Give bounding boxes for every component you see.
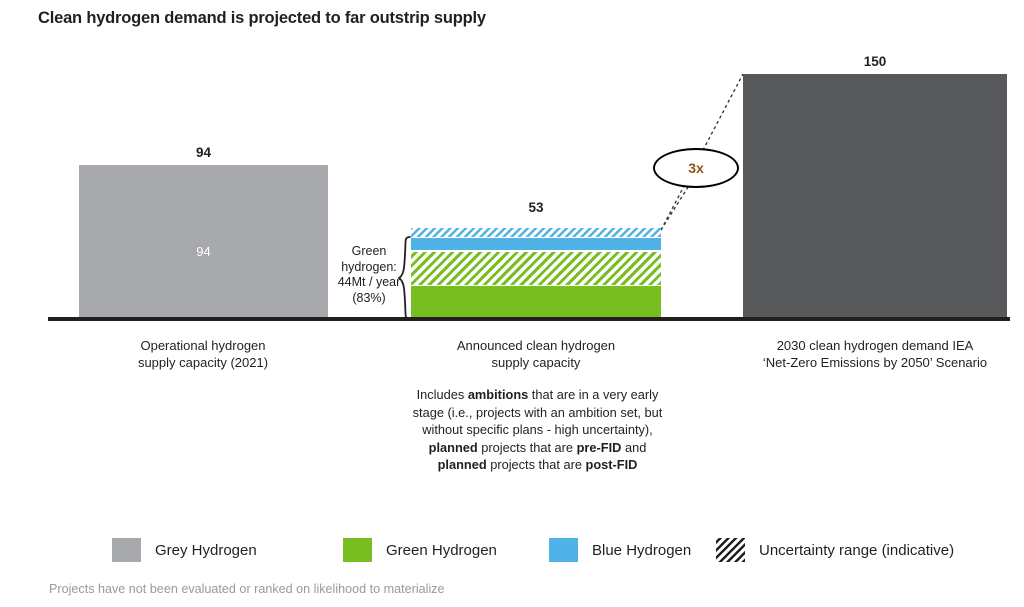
- includes-note-bold-planned-2: planned: [438, 457, 487, 472]
- chart-plot-area: 94 94 53 Green hydrogen: 44Mt / year (83…: [0, 0, 1024, 607]
- chart-legend: Grey Hydrogen Green Hydrogen Blue Hydrog…: [112, 535, 972, 565]
- category-label-2030-demand: 2030 clean hydrogen demand IEA ‘Net-Zero…: [730, 337, 1020, 371]
- includes-note-bold-pre-fid: pre-FID: [577, 440, 622, 455]
- includes-note-part-1: Includes: [417, 387, 468, 402]
- legend-label-green-hydrogen: Green Hydrogen: [386, 542, 497, 559]
- x-axis-line: [48, 317, 1010, 321]
- bar-2030-demand[interactable]: [743, 74, 1007, 317]
- category-1-line-1: Operational hydrogen: [103, 337, 303, 354]
- category-label-announced-supply: Announced clean hydrogen supply capacity: [436, 337, 636, 371]
- segment-green-hydrogen: [411, 286, 661, 317]
- legend-item-green-hydrogen[interactable]: Green Hydrogen: [343, 535, 497, 565]
- includes-note-part-4: and: [621, 440, 646, 455]
- legend-swatch-blue-hydrogen: [549, 538, 578, 562]
- legend-label-blue-hydrogen: Blue Hydrogen: [592, 542, 691, 559]
- category-3-line-2: ‘Net-Zero Emissions by 2050’ Scenario: [730, 354, 1020, 371]
- includes-note: Includes ambitions that are in a very ea…: [411, 386, 664, 474]
- bar-grey-inside-label: 94: [79, 244, 328, 259]
- legend-swatch-green-hydrogen: [343, 538, 372, 562]
- bar-announced-clean-hydrogen[interactable]: [411, 228, 661, 317]
- multiplier-callout: 3x: [653, 148, 739, 188]
- includes-note-bold-ambitions: ambitions: [468, 387, 528, 402]
- legend-swatch-grey-hydrogen: [112, 538, 141, 562]
- legend-item-blue-hydrogen[interactable]: Blue Hydrogen: [549, 535, 691, 565]
- category-2-line-1: Announced clean hydrogen: [436, 337, 636, 354]
- bar-grey-value-label: 94: [79, 145, 328, 160]
- green-annot-line-4: (83%): [330, 291, 408, 307]
- bar-announced-value-label: 53: [411, 200, 661, 215]
- green-annot-line-3: 44Mt / year: [330, 275, 408, 291]
- bar-2030-demand-value-label: 150: [743, 54, 1007, 69]
- includes-note-part-3: projects that are: [478, 440, 577, 455]
- segment-green-uncertainty: [411, 252, 661, 285]
- legend-label-uncertainty-range: Uncertainty range (indicative): [759, 542, 954, 559]
- multiplier-callout-label: 3x: [688, 160, 704, 176]
- bar-grey-hydrogen[interactable]: [79, 165, 328, 317]
- green-hydrogen-annotation: Green hydrogen: 44Mt / year (83%): [330, 244, 408, 306]
- category-3-line-1: 2030 clean hydrogen demand IEA: [730, 337, 1020, 354]
- green-annot-line-1: Green: [330, 244, 408, 260]
- includes-note-bold-post-fid: post-FID: [586, 457, 638, 472]
- category-label-operational-supply: Operational hydrogen supply capacity (20…: [103, 337, 303, 371]
- legend-label-grey-hydrogen: Grey Hydrogen: [155, 542, 257, 559]
- legend-item-uncertainty-range[interactable]: Uncertainty range (indicative): [716, 535, 954, 565]
- legend-item-grey-hydrogen[interactable]: Grey Hydrogen: [112, 535, 257, 565]
- legend-swatch-uncertainty-range: [716, 538, 745, 562]
- includes-note-bold-planned-1: planned: [429, 440, 478, 455]
- disclaimer-text: Projects have not been evaluated or rank…: [49, 582, 445, 596]
- green-annot-line-2: hydrogen:: [330, 260, 408, 276]
- includes-note-part-5: projects that are: [487, 457, 586, 472]
- category-1-line-2: supply capacity (2021): [103, 354, 303, 371]
- segment-blue-uncertainty: [411, 228, 661, 237]
- category-2-line-2: supply capacity: [436, 354, 636, 371]
- segment-blue-hydrogen: [411, 238, 661, 250]
- leader-line-lower: [661, 184, 690, 230]
